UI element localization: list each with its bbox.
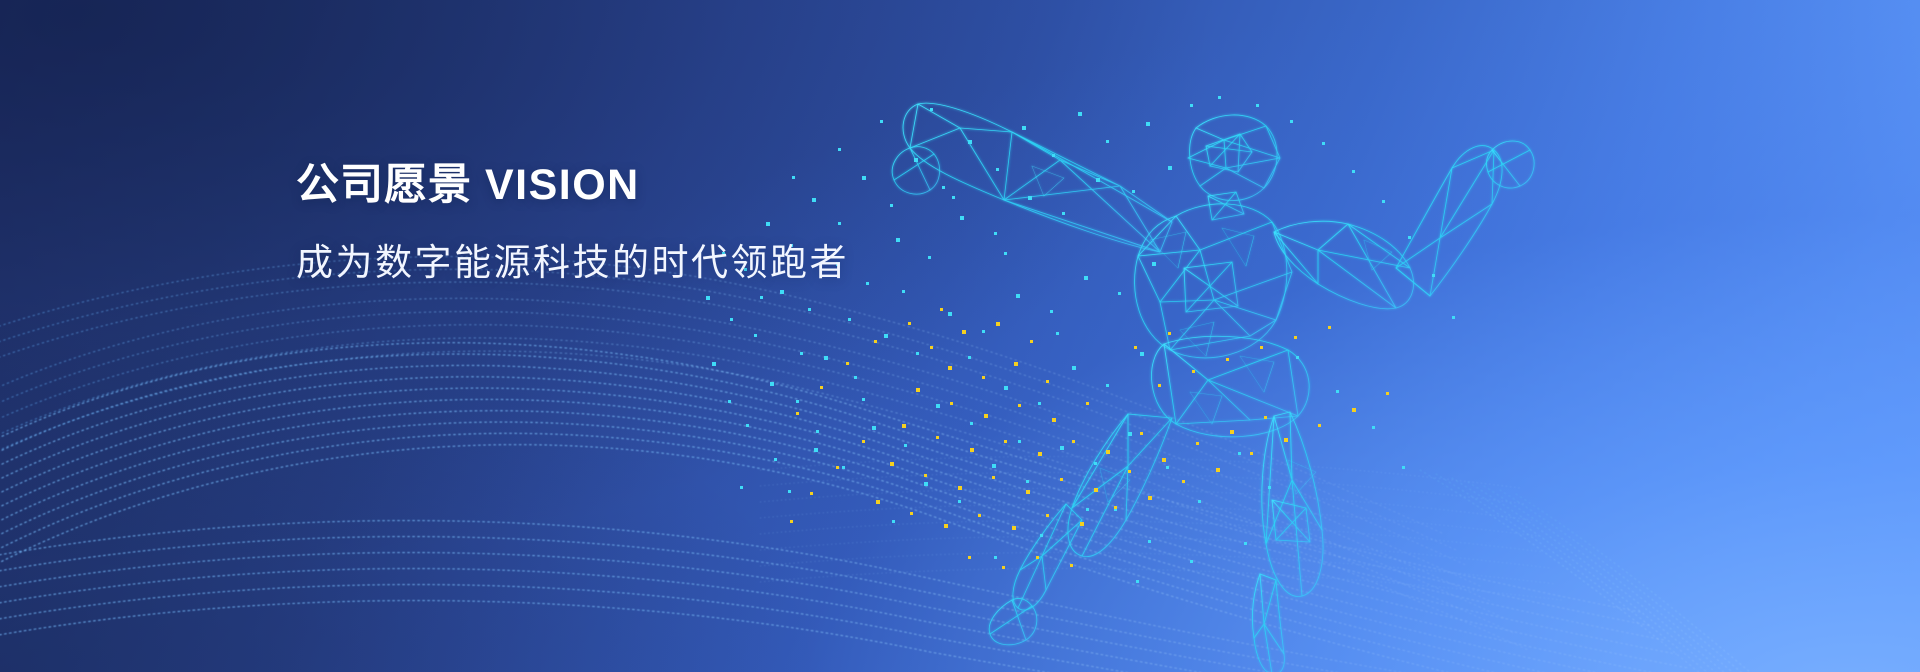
page-title: 公司愿景 VISION	[296, 160, 849, 211]
title-cn: 公司愿景	[296, 161, 472, 209]
vision-hero-banner: 公司愿景 VISION 成为数字能源科技的时代领跑者	[0, 0, 1920, 672]
background-vignette	[0, 0, 1920, 672]
page-subtitle: 成为数字能源科技的时代领跑者	[296, 239, 849, 287]
title-en: VISION	[485, 161, 640, 209]
hero-text-block: 公司愿景 VISION 成为数字能源科技的时代领跑者	[296, 160, 849, 287]
